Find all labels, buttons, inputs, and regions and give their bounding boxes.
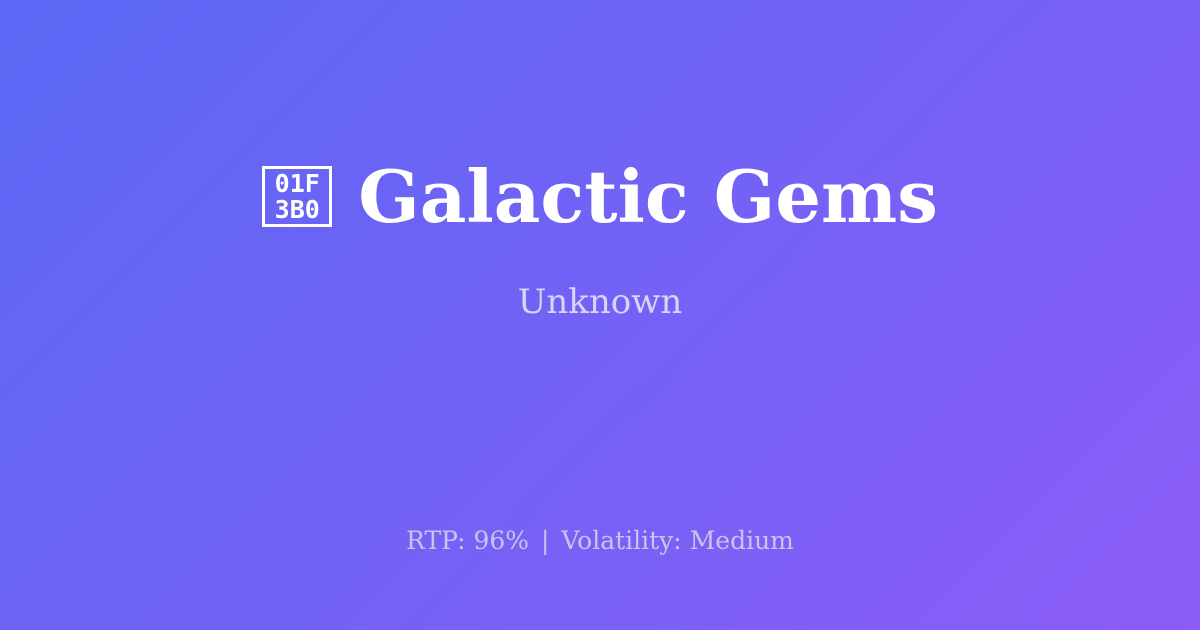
slot-machine-emoji-icon: 01F 3B0 — [262, 166, 332, 227]
game-meta-footer: RTP: 96% | Volatility: Medium — [0, 525, 1200, 556]
volatility-label: Volatility: — [561, 526, 681, 555]
title-row: 01F 3B0 Galactic Gems — [262, 159, 938, 235]
tofu-codepoint-bottom: 3B0 — [275, 197, 320, 223]
hero-block: 01F 3B0 Galactic Gems Unknown — [0, 0, 1200, 500]
page-title: Galactic Gems — [358, 159, 938, 235]
volatility-value: Medium — [690, 526, 794, 555]
meta-separator: | — [537, 526, 553, 555]
game-provider-subtitle: Unknown — [518, 282, 683, 323]
tofu-codepoint-top: 01F — [275, 171, 320, 197]
game-preview-card: 01F 3B0 Galactic Gems Unknown RTP: 96% |… — [0, 0, 1200, 630]
rtp-value: 96% — [473, 526, 529, 555]
rtp-label: RTP: — [406, 526, 465, 555]
